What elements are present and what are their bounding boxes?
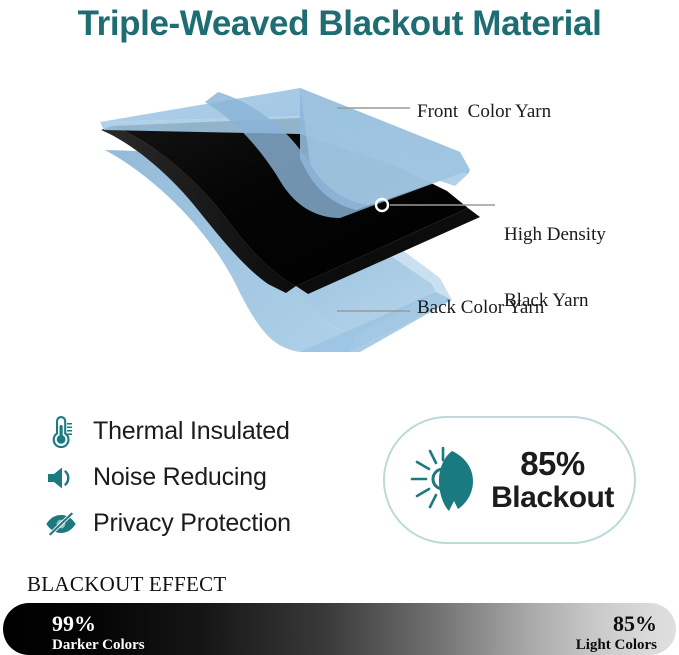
badge-text: 85% Blackout: [491, 446, 614, 514]
badge-word: Blackout: [491, 481, 614, 514]
feature-list: Thermal Insulated Noise Reducing Privacy…: [44, 410, 374, 548]
sun-blocked-icon: [405, 443, 483, 517]
page-title: Triple-Weaved Blackout Material: [0, 0, 679, 48]
badge-percent: 85%: [520, 445, 585, 482]
label-front-color-yarn: Front Color Yarn: [417, 101, 551, 123]
bar-light-colors-group: 85% Light Colors: [576, 612, 657, 654]
bar-left-label: Darker Colors: [52, 636, 145, 654]
label-black-line1: High Density: [504, 224, 606, 246]
eye-slash-icon: [44, 507, 78, 541]
thermometer-icon: [44, 415, 78, 449]
blackout-percentage-badge: 85% Blackout: [383, 416, 636, 544]
feature-label-privacy-protection: Privacy Protection: [93, 509, 291, 538]
speaker-sound-icon: [44, 461, 78, 495]
feature-thermal-insulated: Thermal Insulated: [44, 410, 374, 453]
bar-right-label: Light Colors: [576, 636, 657, 654]
label-back-color-yarn: Back Color Yarn: [417, 297, 544, 319]
feature-label-noise-reducing: Noise Reducing: [93, 463, 267, 492]
bar-right-percent: 85%: [576, 612, 657, 636]
feature-noise-reducing: Noise Reducing: [44, 456, 374, 499]
blackout-effect-heading: BLACKOUT EFFECT: [27, 572, 227, 597]
bar-left-percent: 99%: [52, 612, 145, 636]
bar-darker-colors-group: 99% Darker Colors: [52, 612, 145, 654]
feature-privacy-protection: Privacy Protection: [44, 502, 374, 545]
feature-label-thermal-insulated: Thermal Insulated: [93, 417, 290, 446]
